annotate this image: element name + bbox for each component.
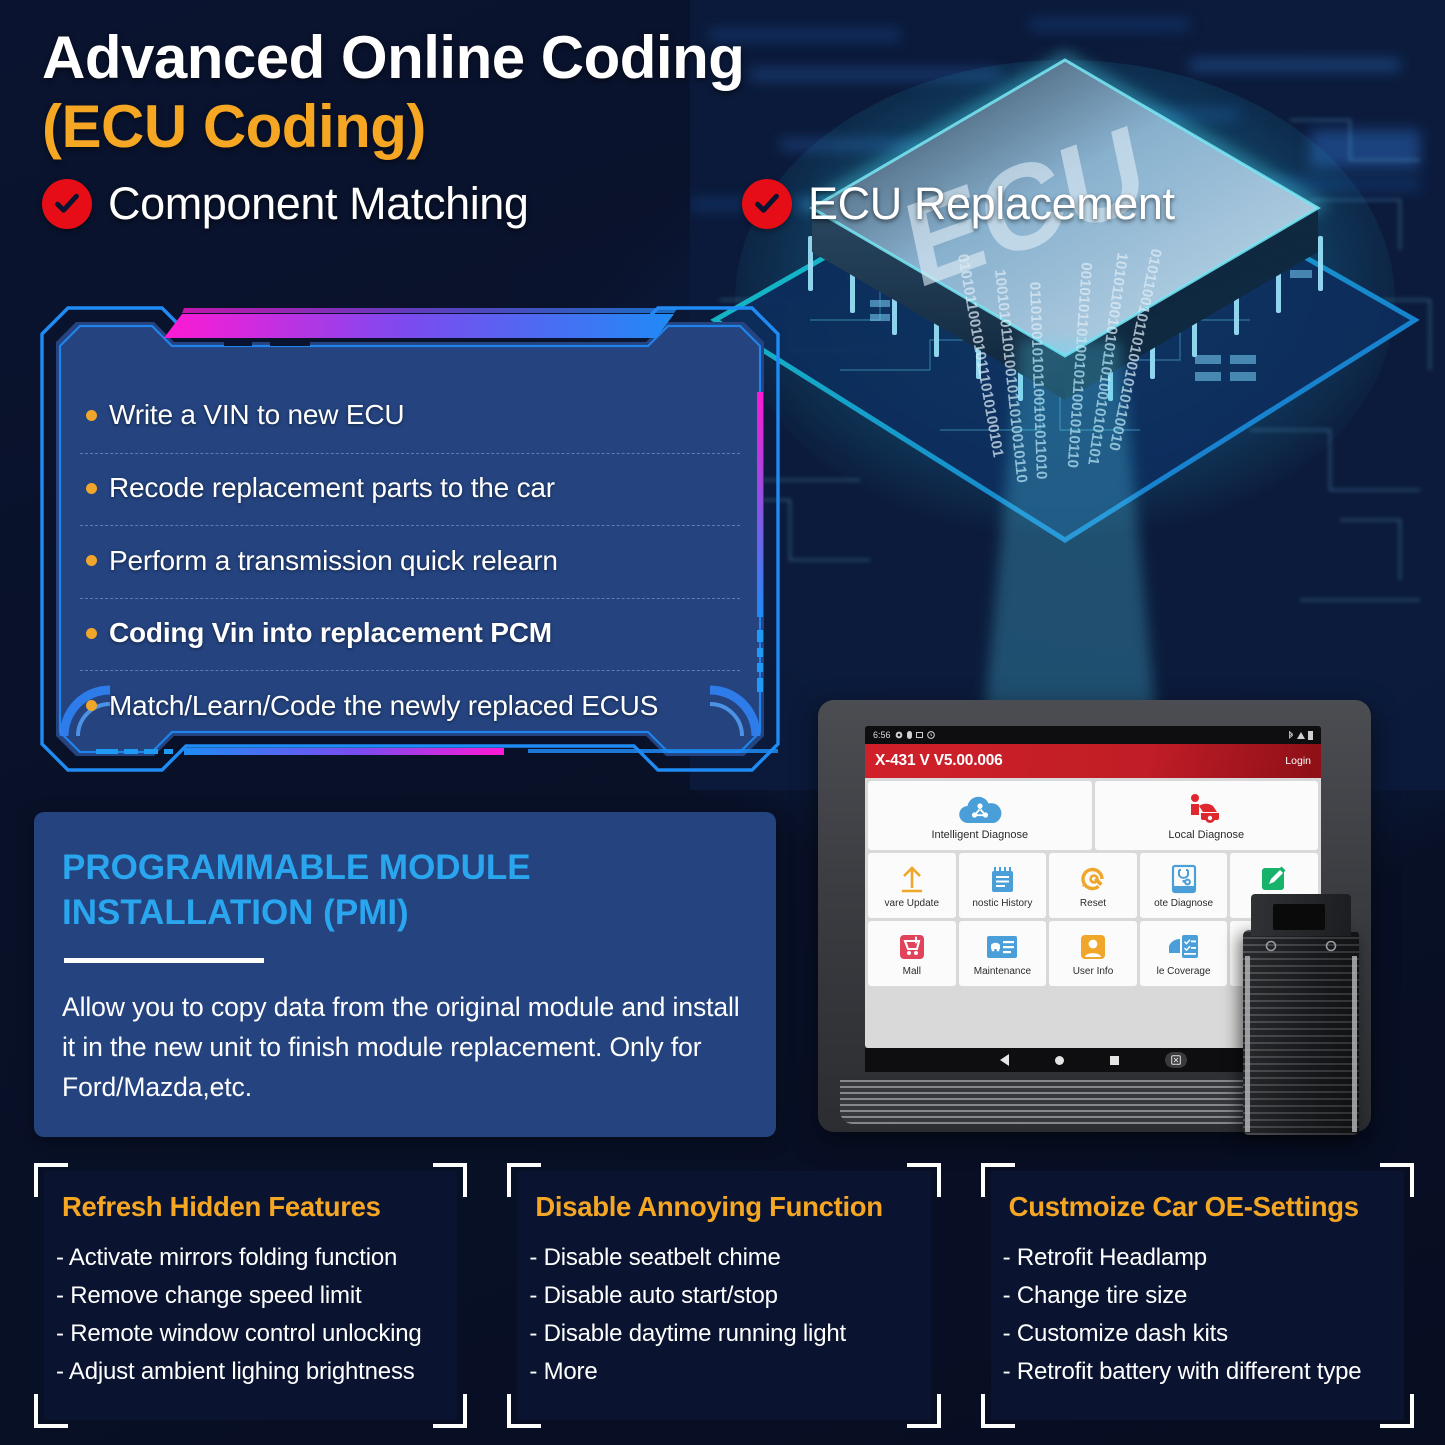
status-time: 6:56	[873, 730, 891, 740]
box-list: - Activate mirrors folding function - Re…	[56, 1239, 459, 1391]
tablet-status-bar: 6:56	[865, 726, 1321, 744]
check-circle-icon	[742, 179, 792, 229]
tile-label: vare Update	[885, 898, 939, 909]
feature-list: Write a VIN to new ECU Recode replacemen…	[80, 380, 740, 740]
pill-icon	[907, 731, 912, 739]
car-list-icon	[986, 931, 1018, 964]
feature-label: Perform a transmission quick relearn	[109, 545, 558, 577]
corner-bracket-bl-icon	[981, 1394, 1015, 1428]
bottom-feature-boxes: Refresh Hidden Features - Activate mirro…	[34, 1163, 1414, 1428]
status-right-icons	[1288, 731, 1313, 740]
tile-label: nostic History	[972, 898, 1032, 909]
list-item: - Retrofit Headlamp	[1003, 1239, 1406, 1277]
upload-arrow-icon	[898, 863, 926, 896]
cloud-diagnose-icon	[957, 791, 1003, 827]
badge-left-label: Component Matching	[108, 178, 529, 230]
badge-component-matching: Component Matching	[42, 178, 742, 230]
pencil-edit-icon	[1260, 863, 1288, 896]
list-item: Match/Learn/Code the newly replaced ECUS	[80, 670, 740, 740]
reset-wrench-icon	[1078, 863, 1108, 896]
tablet-title-bar: X-431 V V5.00.006 Login	[865, 744, 1321, 778]
box-title: Refresh Hidden Features	[62, 1191, 455, 1223]
tile-software-update[interactable]: vare Update	[868, 853, 956, 918]
box-title: Disable Annoying Function	[535, 1191, 928, 1223]
pmi-title: PROGRAMMABLE MODULE INSTALLATION (PMI)	[62, 846, 746, 936]
car-checklist-icon	[1168, 931, 1200, 964]
stethoscope-tablet-icon	[1171, 863, 1197, 896]
pmi-body: Allow you to copy data from the original…	[62, 987, 746, 1108]
sdcard-icon	[916, 732, 923, 738]
bullet-dot-icon	[86, 628, 97, 639]
obd-connector-slot	[1273, 904, 1325, 930]
obd-connector	[1243, 930, 1359, 1135]
tile-reset[interactable]: Reset	[1049, 853, 1137, 918]
corner-bracket-br-icon	[433, 1394, 467, 1428]
list-item: Recode replacement parts to the car	[80, 453, 740, 523]
header-badge-row: Component Matching ECU Replacement	[42, 178, 1445, 230]
feature-label: Write a VIN to new ECU	[109, 399, 404, 431]
bullet-dot-icon	[86, 410, 97, 421]
page-title-line2: (ECU Coding)	[42, 93, 1445, 160]
list-item: - Disable seatbelt chime	[529, 1239, 932, 1277]
box-refresh-hidden-features: Refresh Hidden Features - Activate mirro…	[34, 1163, 467, 1428]
marketing-infographic: ECU 0101011001010111010100101 1001010110…	[0, 0, 1445, 1445]
battery-icon	[1308, 731, 1313, 740]
wifi-icon	[1297, 732, 1305, 739]
box-disable-annoying-function: Disable Annoying Function - Disable seat…	[507, 1163, 940, 1428]
tile-diagnostic-history[interactable]: nostic History	[959, 853, 1047, 918]
tile-row-1: Intelligent Diagnose Local Diagnose	[868, 781, 1318, 850]
feature-label: Coding Vin into replacement PCM	[109, 617, 552, 649]
corner-bracket-bl-icon	[507, 1394, 541, 1428]
tile-remote-diagnose[interactable]: ote Diagnose	[1140, 853, 1228, 918]
feature-panel: Write a VIN to new ECU Recode replacemen…	[34, 300, 786, 778]
recents-square-icon[interactable]	[1110, 1056, 1119, 1065]
list-item: - Change tire size	[1003, 1277, 1406, 1315]
list-item: - Remove change speed limit	[56, 1277, 459, 1315]
tile-label: ote Diagnose	[1154, 898, 1213, 909]
tile-label: User Info	[1073, 966, 1114, 977]
bullet-dot-icon	[86, 483, 97, 494]
tile-label: Maintenance	[974, 966, 1031, 977]
check-circle-icon	[42, 179, 92, 229]
diagnostic-tablet: 6:56 X-431 V V5.00.006 Login	[818, 700, 1378, 1140]
list-item: Perform a transmission quick relearn	[80, 525, 740, 595]
app-title: X-431 V V5.00.006	[875, 752, 1003, 770]
bullet-dot-icon	[86, 555, 97, 566]
box-customize-car-oe-settings: Custmoize Car OE-Settings - Retrofit Hea…	[981, 1163, 1414, 1428]
feature-label: Recode replacement parts to the car	[109, 472, 555, 504]
tile-maintenance[interactable]: Maintenance	[959, 921, 1047, 986]
tile-user-info[interactable]: User Info	[1049, 921, 1137, 986]
list-item: - More	[529, 1353, 932, 1391]
tile-label: Local Diagnose	[1168, 829, 1244, 841]
badge-right-label: ECU Replacement	[808, 178, 1175, 230]
tile-local-diagnose[interactable]: Local Diagnose	[1095, 781, 1319, 850]
login-button[interactable]: Login	[1285, 755, 1311, 767]
clock-icon	[927, 731, 935, 739]
screenshot-icon[interactable]	[1165, 1052, 1187, 1068]
gear-icon	[895, 731, 903, 739]
mechanic-car-icon	[1183, 791, 1229, 827]
box-list: - Retrofit Headlamp - Change tire size -…	[1003, 1239, 1406, 1391]
obd-connector-details	[1243, 930, 1359, 1135]
tile-intelligent-diagnose[interactable]: Intelligent Diagnose	[868, 781, 1092, 850]
tile-label: le Coverage	[1157, 966, 1211, 977]
notepad-icon	[988, 863, 1016, 896]
back-triangle-icon[interactable]	[1000, 1054, 1009, 1066]
feature-label: Match/Learn/Code the newly replaced ECUS	[109, 690, 658, 722]
pmi-card: PROGRAMMABLE MODULE INSTALLATION (PMI) A…	[34, 812, 776, 1137]
tile-label: Intelligent Diagnose	[931, 829, 1028, 841]
list-item: Coding Vin into replacement PCM	[80, 598, 740, 668]
box-list: - Disable seatbelt chime - Disable auto …	[529, 1239, 932, 1391]
list-item: - Adjust ambient lighing brightness	[56, 1353, 459, 1391]
list-item: - Activate mirrors folding function	[56, 1239, 459, 1277]
bluetooth-icon	[1288, 731, 1294, 740]
list-item: - Remote window control unlocking	[56, 1315, 459, 1353]
user-avatar-icon	[1079, 931, 1107, 964]
list-item: - Disable daytime running light	[529, 1315, 932, 1353]
tile-mall[interactable]: Mall	[868, 921, 956, 986]
corner-bracket-br-icon	[907, 1394, 941, 1428]
list-item: - Disable auto start/stop	[529, 1277, 932, 1315]
corner-bracket-bl-icon	[34, 1394, 68, 1428]
list-item: - Retrofit battery with different type	[1003, 1353, 1406, 1391]
badge-ecu-replacement: ECU Replacement	[742, 178, 1175, 230]
tile-label: Mall	[903, 966, 921, 977]
box-title: Custmoize Car OE-Settings	[1009, 1191, 1402, 1223]
bullet-dot-icon	[86, 700, 97, 711]
shopping-cart-icon	[898, 931, 926, 964]
home-circle-icon[interactable]	[1055, 1056, 1064, 1065]
tile-label: Reset	[1080, 898, 1106, 909]
tile-vehicle-coverage[interactable]: le Coverage	[1140, 921, 1228, 986]
pmi-divider	[64, 958, 264, 963]
list-item: Write a VIN to new ECU	[80, 380, 740, 450]
page-title-line1: Advanced Online Coding	[42, 26, 1445, 89]
header: Advanced Online Coding (ECU Coding) Comp…	[0, 0, 1445, 230]
corner-bracket-br-icon	[1380, 1394, 1414, 1428]
list-item: - Customize dash kits	[1003, 1315, 1406, 1353]
